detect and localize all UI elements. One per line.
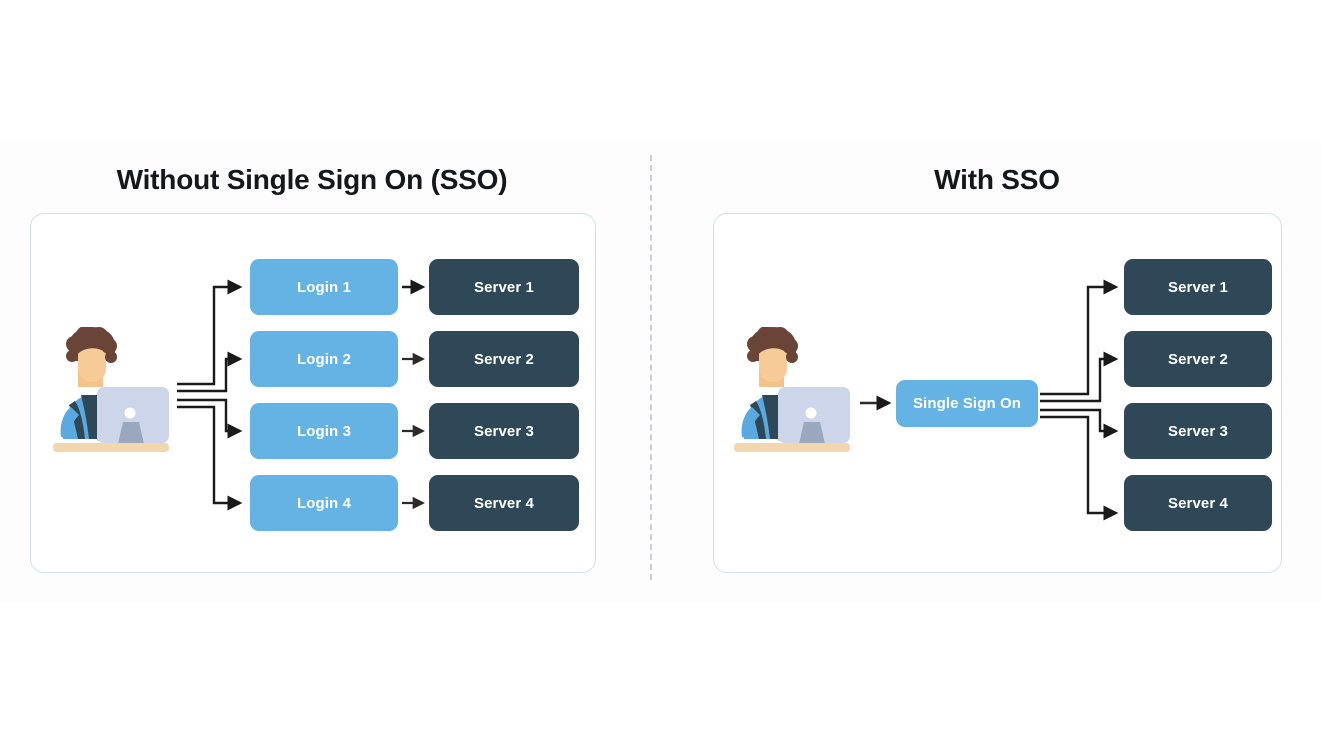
node-label: Server 1: [1168, 279, 1228, 296]
node-label: Login 1: [297, 279, 351, 296]
node-label: Server 2: [474, 351, 534, 368]
node-login-1[interactable]: Login 1: [250, 259, 398, 315]
node-server-1-right[interactable]: Server 1: [1124, 259, 1272, 315]
node-label: Server 2: [1168, 351, 1228, 368]
node-label: Login 2: [297, 351, 351, 368]
node-server-4-left[interactable]: Server 4: [429, 475, 579, 531]
node-server-2-right[interactable]: Server 2: [1124, 331, 1272, 387]
node-server-3-right[interactable]: Server 3: [1124, 403, 1272, 459]
node-server-4-right[interactable]: Server 4: [1124, 475, 1272, 531]
node-single-sign-on[interactable]: Single Sign On: [896, 380, 1038, 427]
node-server-1-left[interactable]: Server 1: [429, 259, 579, 315]
node-login-4[interactable]: Login 4: [250, 475, 398, 531]
diagram-canvas: Without Single Sign On (SSO) With SSO: [0, 0, 1321, 744]
node-label: Server 4: [474, 495, 534, 512]
node-label: Server 1: [474, 279, 534, 296]
node-server-2-left[interactable]: Server 2: [429, 331, 579, 387]
node-login-3[interactable]: Login 3: [250, 403, 398, 459]
node-label: Server 3: [1168, 423, 1228, 440]
node-label: Single Sign On: [913, 395, 1021, 412]
page-title-without-sso: Without Single Sign On (SSO): [28, 164, 596, 196]
vertical-dashed-divider: [650, 155, 652, 580]
node-server-3-left[interactable]: Server 3: [429, 403, 579, 459]
node-label: Login 3: [297, 423, 351, 440]
node-label: Login 4: [297, 495, 351, 512]
node-label: Server 4: [1168, 495, 1228, 512]
user-at-computer-icon: [45, 327, 177, 457]
page-title-with-sso: With SSO: [712, 164, 1282, 196]
user-at-computer-icon: [726, 327, 858, 457]
node-label: Server 3: [474, 423, 534, 440]
node-login-2[interactable]: Login 2: [250, 331, 398, 387]
